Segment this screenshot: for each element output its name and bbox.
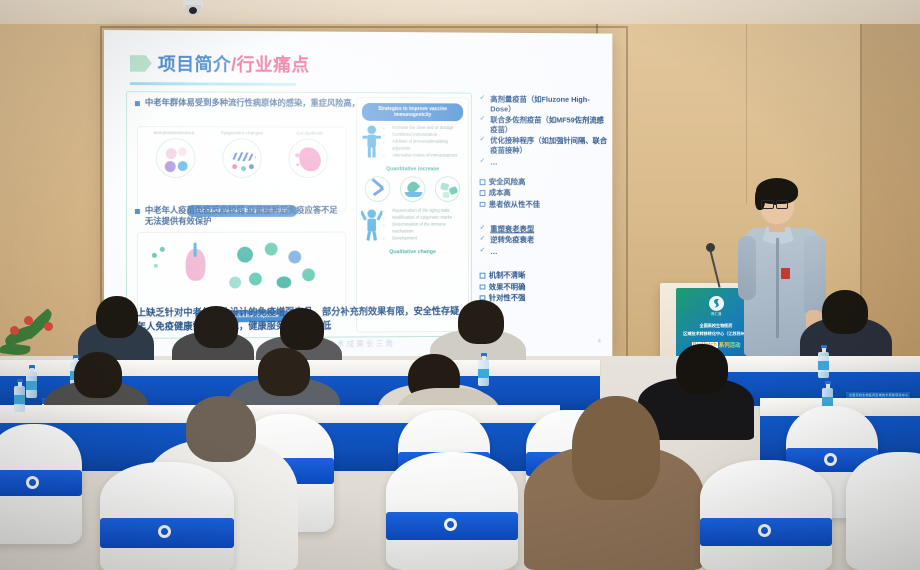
heart-in-hand-icon (400, 176, 425, 202)
qualitative-icon-row (357, 172, 468, 202)
attendee-head (258, 348, 310, 396)
projection-screen: 项目简介/行业痛点 中老年群体易受到多种流行性病原体的感染，重症风险高，死亡率高… (104, 30, 612, 360)
figure-label-epigenetics: Epigenetics changes (211, 130, 272, 136)
square-checkbox-icon (480, 190, 485, 195)
list-item: Alternative routes of immunizations (392, 152, 464, 158)
list-item: Development (392, 235, 464, 241)
podium-line-2: 区域技术转移转化中心（江苏苏州） (683, 331, 749, 337)
figure-label-gut-dysbiosis: Gut dysbiosis (279, 130, 340, 136)
slide-bullet-2-text: 中老年人疫苗免疫反应较弱 疫苗接种后免疫应答不足 无法提供有效保护 (145, 205, 339, 228)
quantitative-block: Increase the dose and or dosage Combined… (357, 121, 468, 164)
ceiling-camera-icon (183, 0, 203, 16)
right-item: 成本高 (480, 188, 611, 198)
slide-page-number: 4 (598, 339, 601, 345)
right-item-text: … (490, 247, 497, 257)
check-icon: ✓ (480, 116, 487, 125)
person-standing-icon (361, 125, 382, 164)
right-item-text: 成本高 (489, 188, 511, 198)
brand-cn-1: 系列 (719, 341, 730, 349)
right-item: ✓ … (480, 157, 611, 167)
dna-icon (222, 138, 262, 178)
attendee-head (280, 308, 324, 350)
attendee-head (676, 344, 728, 394)
chair-sash-knot (444, 518, 457, 531)
chair-sash-knot (758, 524, 771, 537)
placard-header-text: 全国高校生物医药区域技术转移转化中心 (849, 393, 908, 397)
check-icon: ✓ (480, 225, 487, 234)
attendee-head (822, 290, 868, 334)
antibody-icon (365, 176, 390, 202)
presenter-shirt-placket (776, 238, 779, 338)
figure-label-immunosenescence: Immunosenescence (143, 130, 205, 136)
slide-right-column: ✓ 高剂量疫苗（如Fluzone High-Dose） ✓ 联合多佐剂疫苗（如M… (480, 95, 611, 305)
attendee-head (74, 352, 122, 398)
chair-sash (0, 470, 82, 496)
presenter-shirt-logo (781, 268, 790, 279)
right-item-text: 联合多佐剂疫苗（如MF59佐剂流感疫苗） (490, 116, 610, 136)
figure-card-top: Immunosenescence Epigenetics changes Gut… (137, 126, 346, 212)
water-bottle (26, 368, 37, 398)
tissue-fragments-icon (435, 176, 460, 202)
quantitative-list: Increase the dose and or dosage Combined… (386, 125, 464, 164)
bullet-square-icon (135, 209, 140, 214)
conference-room-scene: 项目简介/行业痛点 中老年群体易受到多种流行性病原体的感染，重症风险高，死亡率高… (0, 0, 920, 570)
right-item-text: 患者依从性不佳 (489, 200, 540, 210)
presentation-slide: 项目简介/行业痛点 中老年群体易受到多种流行性病原体的感染，重症风险高，死亡率高… (104, 30, 612, 360)
brand-cn-2: 活动 (730, 341, 741, 349)
water-bottle (478, 356, 489, 386)
chair (100, 462, 234, 570)
brand-logo-caption: 博汇通 (711, 312, 722, 317)
glasses-icon (761, 200, 774, 209)
qualitative-caption: Qualitative change (357, 249, 468, 255)
slide-title-row: 项目简介/行业痛点 (130, 50, 605, 78)
right-item: ✓ 联合多佐剂疫苗（如MF59佐剂流感疫苗） (480, 116, 611, 136)
check-icon: ✓ (480, 247, 487, 256)
glasses-bridge (774, 204, 777, 205)
right-item-text: 逆转免疫衰老 (490, 236, 534, 246)
chair-sash-knot (824, 453, 837, 466)
right-item: 患者依从性不佳 (480, 200, 611, 210)
right-item: 机制不清晰 (480, 271, 611, 281)
right-item: ✓ … (480, 247, 611, 257)
square-checkbox-icon (480, 284, 485, 289)
chair (846, 452, 920, 570)
right-item: ✓ 重塑衰老表型 (480, 224, 611, 234)
chair-sash-knot (158, 525, 171, 538)
right-item-text: 安全风险高 (489, 177, 526, 187)
check-icon: ✓ (480, 236, 487, 245)
right-item-text: 效果不明确 (489, 282, 526, 292)
check-icon: ✓ (480, 157, 487, 166)
slide-left-panel: 中老年群体易受到多种流行性病原体的感染，重症风险高，死亡率高 Immunosen… (126, 91, 472, 339)
right-item-text: 高剂量疫苗（如Fluzone High-Dose） (490, 95, 610, 115)
figure-top-labels: Immunosenescence Epigenetics changes Gut… (138, 127, 345, 136)
title-underline (130, 82, 296, 86)
chair-sash-knot (26, 476, 39, 489)
right-item-text: 优化接种程序（如加强针间隔、联合疫苗接种） (490, 136, 610, 156)
chevron-right-icon (130, 55, 152, 72)
brand-logo-icon (709, 296, 724, 311)
presenter-left-arm (738, 236, 756, 300)
right-item: ✓ 高剂量疫苗（如Fluzone High-Dose） (480, 95, 611, 115)
right-item: 针对性不强 (480, 293, 611, 303)
check-icon: ✓ (480, 95, 487, 104)
chair (386, 452, 518, 570)
slide-title-secondary: 行业痛点 (237, 55, 310, 75)
attendee-head (194, 306, 238, 348)
check-icon: ✓ (480, 136, 487, 145)
list-item: Increase the dose and or dosage (392, 125, 464, 131)
right-item: ✓ 优化接种程序（如加强针间隔、联合疫苗接种） (480, 136, 611, 156)
podium-line-1: 全国高校生物医药 (700, 323, 733, 329)
microphone-icon (706, 243, 715, 252)
slide-footer: 市场上缺乏针对中老年群体设计的免疫增强产品，部分补充剂效果有限，安全性存疑 中老… (118, 304, 607, 334)
attendee-head (186, 396, 256, 462)
right-item-text: 重塑衰老表型 (490, 225, 534, 235)
right-item-text: … (490, 157, 497, 167)
square-checkbox-icon (480, 273, 485, 278)
list-item: Combined immunization (392, 132, 464, 138)
wall-far-right-panel (862, 24, 920, 364)
bullet-square-icon (135, 101, 140, 106)
slide-title-primary: 项目简介 (158, 54, 231, 74)
chair (700, 460, 832, 570)
attendee-head (572, 396, 660, 500)
water-bottle (14, 382, 25, 412)
right-item: ✓ 逆转免疫衰老 (480, 236, 611, 246)
water-bottle (818, 348, 829, 378)
glasses-icon (776, 200, 788, 209)
page-title: 项目简介/行业痛点 (158, 50, 310, 77)
square-checkbox-icon (480, 202, 485, 207)
strategies-header: Strategies to improve vaccine immunogeni… (362, 103, 463, 121)
right-item: 效果不明确 (480, 282, 611, 292)
square-checkbox-icon (480, 179, 485, 184)
attendee-head (458, 300, 504, 344)
intestine-icon (289, 138, 328, 178)
right-item: 安全风险高 (480, 177, 611, 187)
list-item: Addition of immunostimulating adjuvants (392, 139, 464, 151)
right-item-text: 针对性不强 (489, 293, 526, 303)
cells-icon (156, 138, 196, 178)
figure-top-circles (138, 136, 345, 178)
slide-bullet-2: 中老年人疫苗免疫反应较弱 疫苗接种后免疫应答不足 无法提供有效保护 (135, 205, 459, 228)
right-item-text: 机制不清晰 (489, 271, 526, 281)
